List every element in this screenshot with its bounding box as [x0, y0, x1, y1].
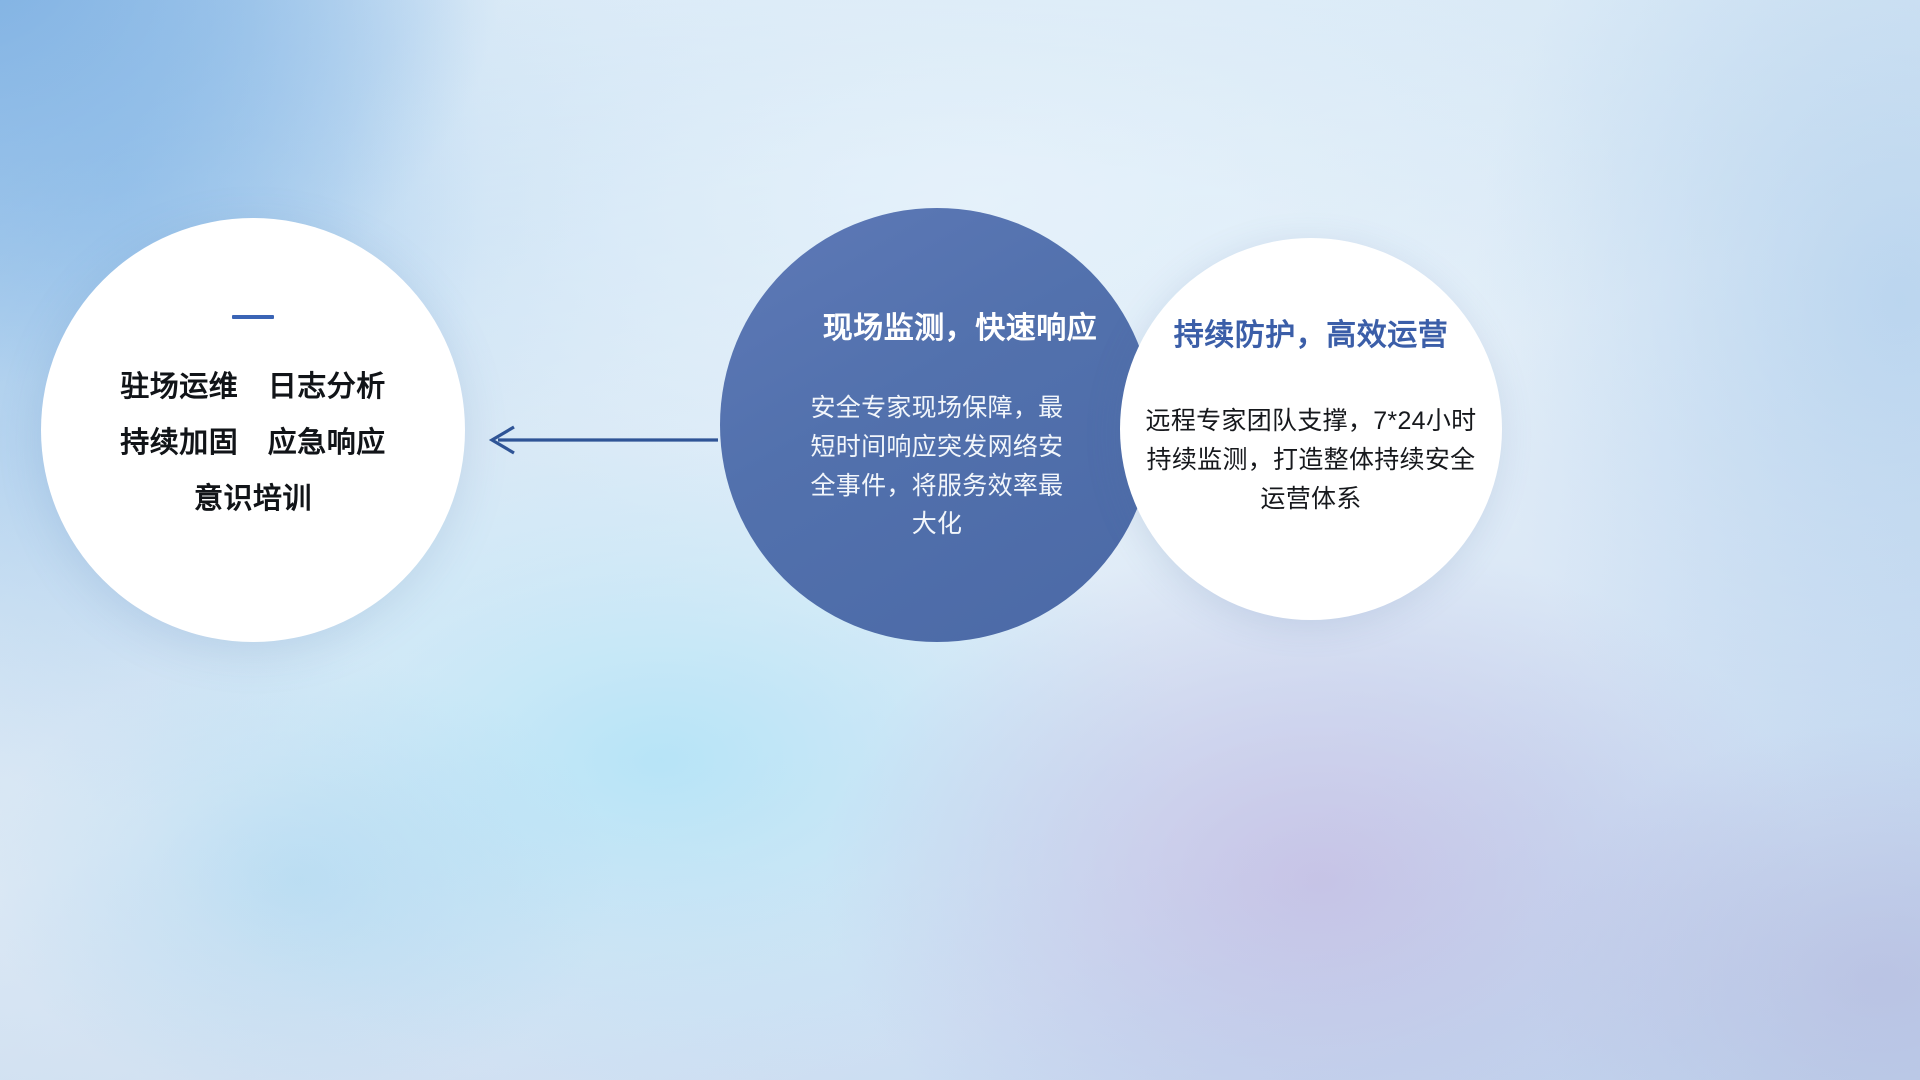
continuous-protection-title: 持续防护，高效运营 [1174, 310, 1449, 354]
continuous-protection-content: 持续防护，高效运营 远程专家团队支撑，7*24小时持续监测，打造整体持续安全运营… [1120, 238, 1502, 620]
continuous-protection-circle: 持续防护，高效运营 远程专家团队支撑，7*24小时持续监测，打造整体持续安全运营… [1120, 238, 1502, 620]
keyword-line-2: 持续加固 应急响应 [120, 423, 386, 463]
continuous-protection-body: 远程专家团队支撑，7*24小时持续监测，打造整体持续安全运营体系 [1135, 402, 1487, 519]
capability-keywords-circle: 驻场运维 日志分析 持续加固 应急响应 意识培训 [41, 218, 465, 642]
onsite-monitoring-content: 现场监测，快速响应 安全专家现场保障，最短时间响应突发网络安全事件，将服务效率最… [720, 208, 1154, 642]
capability-keywords-content: 驻场运维 日志分析 持续加固 应急响应 意识培训 [41, 218, 465, 642]
title-divider-dash [232, 315, 274, 319]
keyword-line-3: 意识培训 [194, 479, 312, 519]
flow-arrow-left [470, 405, 720, 475]
keyword-line-1: 驻场运维 日志分析 [120, 367, 386, 407]
onsite-monitoring-circle: 现场监测，快速响应 安全专家现场保障，最短时间响应突发网络安全事件，将服务效率最… [720, 208, 1154, 642]
onsite-monitoring-body: 安全专家现场保障，最短时间响应突发网络安全事件，将服务效率最大化 [804, 389, 1070, 544]
onsite-monitoring-title: 现场监测，快速响应 [823, 303, 1098, 347]
